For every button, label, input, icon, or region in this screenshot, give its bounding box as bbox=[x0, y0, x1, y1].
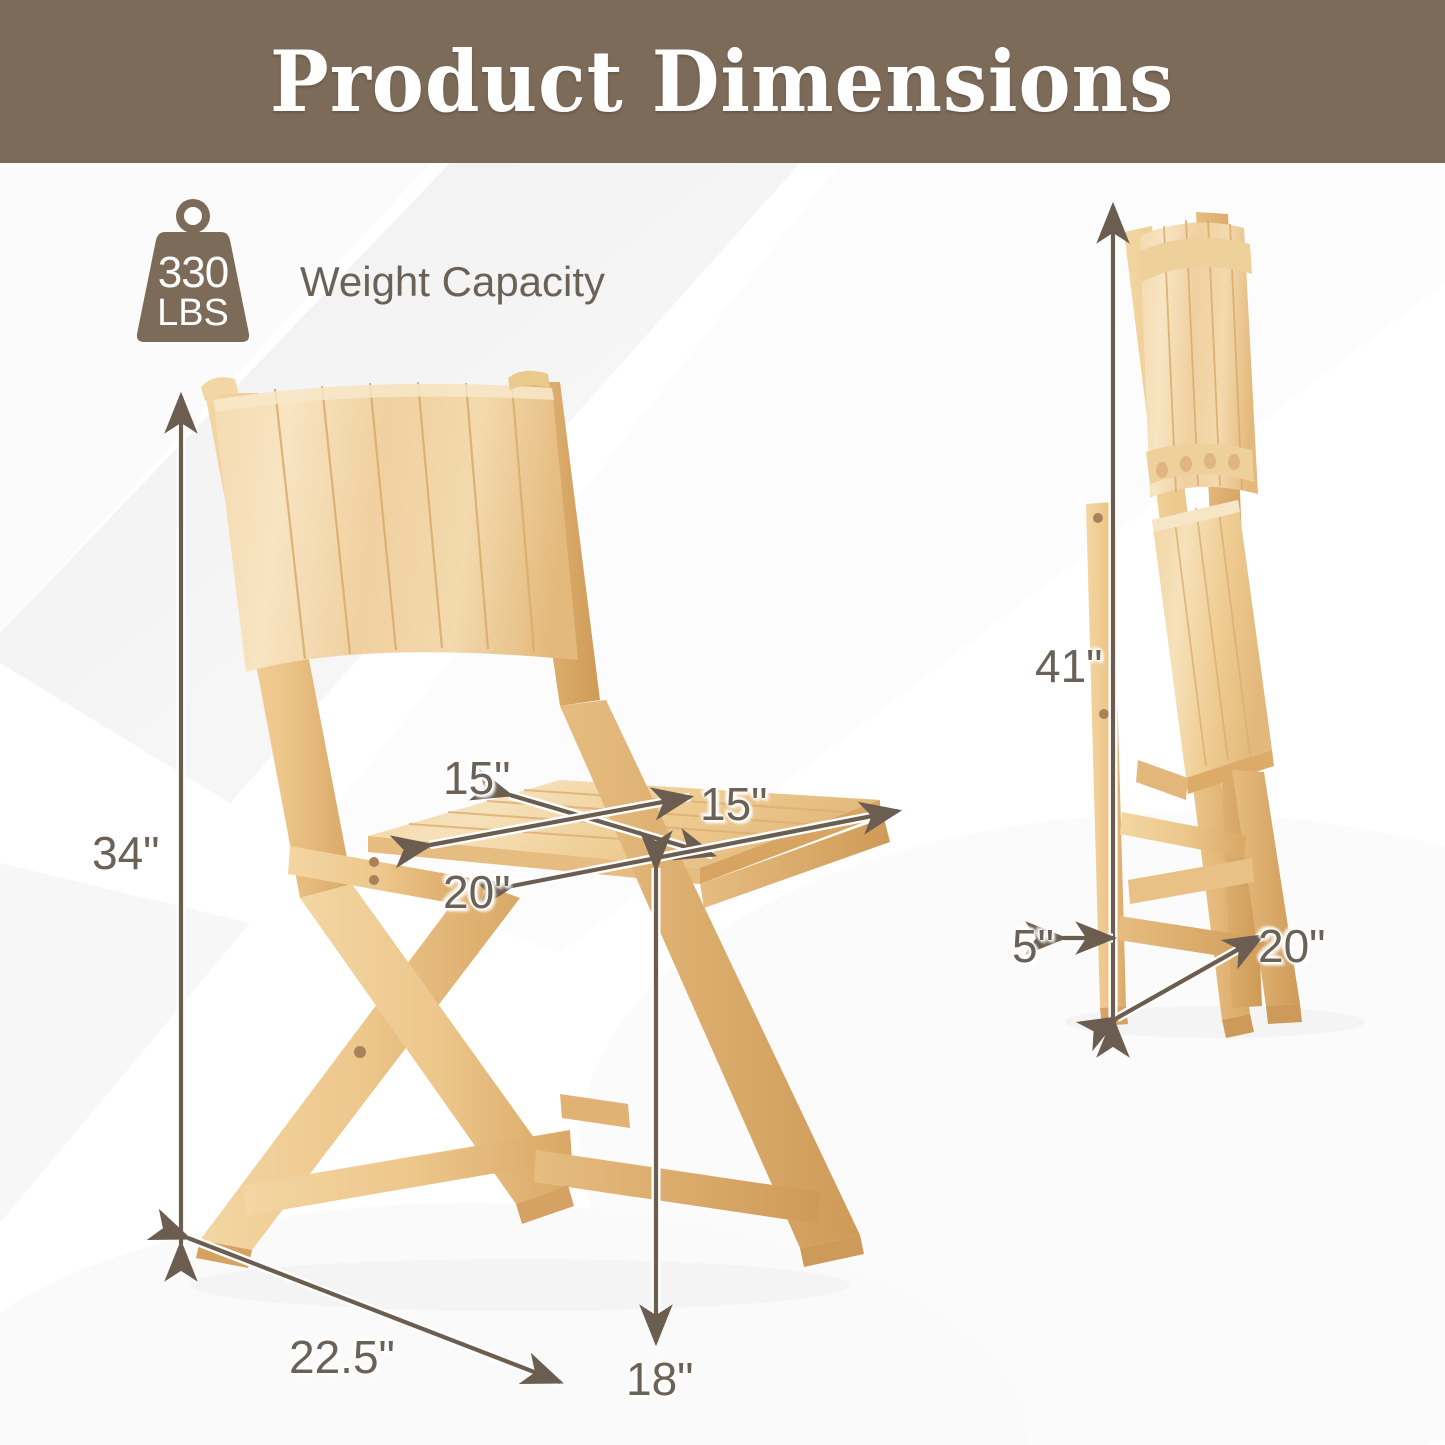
mid-brace bbox=[560, 1094, 630, 1128]
dimension-label-seat-width: 15" bbox=[700, 777, 768, 831]
dimension-label-folded-width: 20" bbox=[1258, 919, 1326, 973]
dimension-label-seat-front: 20" bbox=[443, 865, 511, 919]
product-illustration bbox=[0, 0, 1445, 1445]
screw-2 bbox=[369, 875, 379, 885]
folded-seat-tab bbox=[1136, 760, 1188, 800]
dimension-label-folded-depth: 5" bbox=[1012, 919, 1054, 973]
screw-1 bbox=[369, 857, 379, 867]
dimension-label-height: 34" bbox=[92, 826, 160, 880]
folded-screw-2 bbox=[1099, 709, 1109, 719]
dimension-label-seat-depth: 15" bbox=[443, 751, 511, 805]
unfolded-chair-graphic bbox=[190, 371, 890, 1311]
folded-foot-right bbox=[1266, 1004, 1302, 1024]
folded-screw-1 bbox=[1093, 513, 1103, 523]
dimension-label-base-depth: 22.5" bbox=[289, 1330, 395, 1384]
pivot-screw bbox=[354, 1046, 366, 1058]
dimension-label-folded-height: 41" bbox=[1035, 639, 1103, 693]
dimension-label-seat-height: 18" bbox=[626, 1352, 694, 1406]
